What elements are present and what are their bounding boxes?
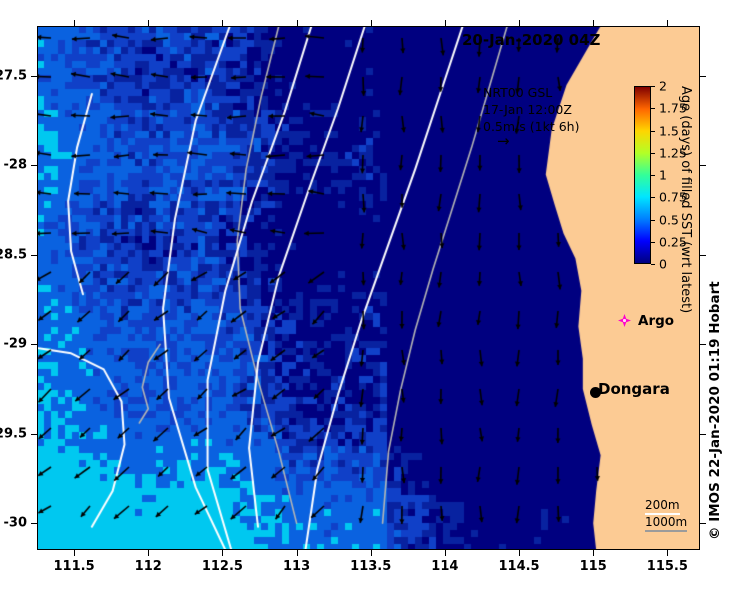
scale-200m-label: 200m bbox=[645, 498, 680, 515]
vector-key-arrow-icon: → bbox=[497, 135, 579, 147]
map-title: 20-Jan-2020 04Z bbox=[462, 31, 600, 49]
colorbar[interactable] bbox=[634, 86, 651, 264]
y-axis-tick bbox=[31, 523, 37, 524]
x-axis-tick-top bbox=[74, 20, 75, 26]
colorbar-tick-label: 0.25 bbox=[652, 234, 687, 249]
x-axis-label: 112 bbox=[135, 559, 162, 574]
x-axis-tick-top bbox=[445, 20, 446, 26]
colorbar-tick-label: 0.75 bbox=[652, 190, 687, 205]
colorbar-tick-label: 0 bbox=[652, 257, 667, 272]
colorbar-tick-label: 1.5 bbox=[652, 123, 679, 138]
x-axis-label: 115 bbox=[580, 559, 607, 574]
annotation-time: 17-Jan 12:00Z bbox=[483, 101, 579, 118]
scale-1000m-label: 1000m bbox=[645, 515, 687, 532]
x-axis-tick bbox=[371, 550, 372, 556]
y-axis-tick bbox=[31, 344, 37, 345]
x-axis-tick-top bbox=[519, 20, 520, 26]
x-axis-label: 113 bbox=[283, 559, 310, 574]
x-axis-tick bbox=[222, 550, 223, 556]
y-axis-tick bbox=[31, 434, 37, 435]
y-axis-tick-right bbox=[700, 523, 706, 524]
x-axis-tick bbox=[74, 550, 75, 556]
x-axis-tick-top bbox=[297, 20, 298, 26]
bathymetry-scale-legend: 200m 1000m bbox=[645, 498, 687, 532]
y-axis-tick bbox=[31, 76, 37, 77]
x-axis-tick-top bbox=[148, 20, 149, 26]
y-axis-tick-right bbox=[700, 165, 706, 166]
x-axis-tick-top bbox=[222, 20, 223, 26]
y-axis-tick-right bbox=[700, 434, 706, 435]
y-axis-tick-right bbox=[700, 344, 706, 345]
model-annotation: NRT00 GSL 17-Jan 12:00Z 0.5m/s (1kt 6h) … bbox=[483, 84, 579, 147]
annotation-product: NRT00 GSL bbox=[483, 84, 579, 101]
y-axis-tick bbox=[31, 165, 37, 166]
current-vectors-layer bbox=[37, 26, 700, 550]
imos-credit: © IMOS 22-Jan-2020 01:19 Hobart bbox=[707, 278, 723, 540]
x-axis-tick bbox=[297, 550, 298, 556]
colorbar-tick-label: 1.25 bbox=[652, 145, 687, 160]
y-axis-tick-right bbox=[700, 255, 706, 256]
map-plot-area[interactable] bbox=[37, 26, 700, 550]
argo-label: Argo bbox=[638, 313, 674, 329]
colorbar-tick-label: 2 bbox=[652, 79, 667, 94]
x-axis-label: 114 bbox=[431, 559, 458, 574]
colorbar-tick-label: 1 bbox=[652, 168, 667, 183]
colorbar-tick-label: 1.75 bbox=[652, 101, 687, 116]
colorbar-tick-label: 0.5 bbox=[652, 212, 679, 227]
x-axis-label: 115.5 bbox=[647, 559, 688, 574]
x-axis-label: 111.5 bbox=[54, 559, 95, 574]
y-axis-label: -28.5 bbox=[0, 247, 27, 262]
x-axis-tick bbox=[445, 550, 446, 556]
y-axis-label: -28 bbox=[4, 158, 28, 173]
x-axis-tick bbox=[667, 550, 668, 556]
x-axis-tick bbox=[593, 550, 594, 556]
x-axis-label: 114.5 bbox=[498, 559, 539, 574]
y-axis-label: -29.5 bbox=[0, 426, 27, 441]
y-axis-label: -27.5 bbox=[0, 69, 27, 84]
x-axis-tick-top bbox=[593, 20, 594, 26]
y-axis-tick-right bbox=[700, 76, 706, 77]
dongara-label: Dongara bbox=[598, 380, 670, 398]
x-axis-label: 113.5 bbox=[350, 559, 391, 574]
x-axis-tick bbox=[519, 550, 520, 556]
y-axis-label: -30 bbox=[4, 516, 28, 531]
x-axis-tick-top bbox=[371, 20, 372, 26]
x-axis-label: 112.5 bbox=[202, 559, 243, 574]
y-axis-tick bbox=[31, 255, 37, 256]
argo-marker-icon[interactable] bbox=[618, 314, 631, 327]
x-axis-tick bbox=[148, 550, 149, 556]
x-axis-tick-top bbox=[667, 20, 668, 26]
y-axis-label: -29 bbox=[4, 337, 28, 352]
